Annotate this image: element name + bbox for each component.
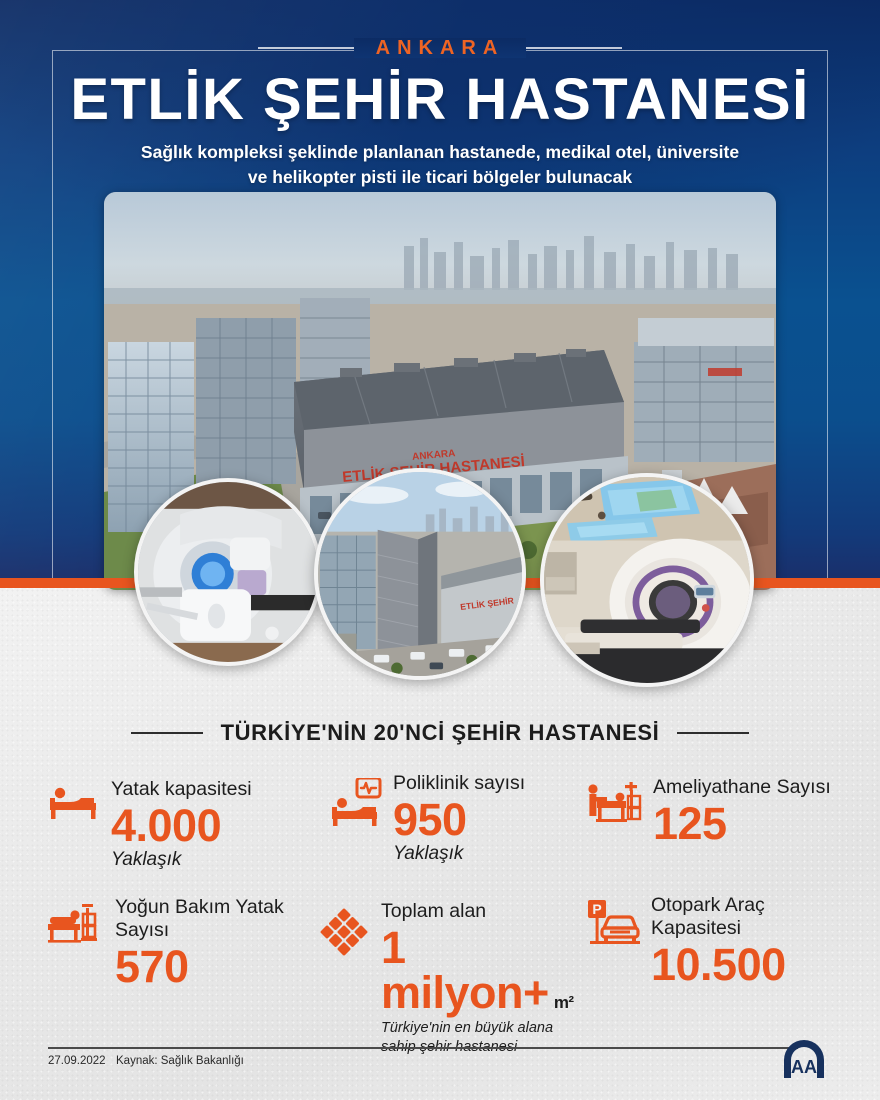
stat-label: Yatak kapasitesi bbox=[111, 778, 298, 801]
svg-text:AA: AA bbox=[791, 1057, 817, 1077]
heading-rule-right bbox=[677, 732, 749, 734]
heading-rule-left bbox=[131, 732, 203, 734]
footer-source: Kaynak: Sağlık Bakanlığı bbox=[116, 1055, 244, 1067]
stat-label: Yoğun Bakım Yatak Sayısı bbox=[115, 896, 313, 942]
stat-value: 1 milyon+ bbox=[381, 922, 549, 1018]
kicker-label: ANKARA bbox=[354, 38, 527, 58]
svg-text:P: P bbox=[592, 901, 601, 917]
footer-date: 27.09.2022 bbox=[48, 1055, 106, 1067]
stat-intensive-care-beds: Yoğun Bakım Yatak Sayısı 570 bbox=[48, 896, 313, 989]
area-diamond-grid-icon bbox=[318, 900, 370, 958]
stat-unit: m² bbox=[554, 993, 574, 1012]
stat-polyclinic-count: Poliklinik sayısı 950 Yaklaşık bbox=[332, 772, 562, 866]
footer-divider bbox=[48, 1047, 798, 1049]
stat-bed-capacity: Yatak kapasitesi 4.000 Yaklaşık bbox=[48, 778, 298, 872]
stat-value: 10.500 bbox=[651, 942, 846, 987]
kicker-rule-left bbox=[258, 47, 354, 49]
stat-value: 950 bbox=[393, 797, 562, 842]
bed-with-monitor-icon bbox=[332, 772, 382, 826]
kicker-row: ANKARA bbox=[0, 38, 880, 58]
mri-scanner-photo bbox=[540, 473, 754, 687]
stat-note: Türkiye'nin en büyük alana sahip şehir h… bbox=[381, 1019, 574, 1057]
stat-value: 570 bbox=[115, 944, 313, 989]
hospital-campus-aerial-photo: ETLİK ŞEHİR bbox=[314, 468, 526, 680]
infographic-page: ANKARA ETLİK ŞEHİR HASTANESİ Sağlık komp… bbox=[0, 0, 880, 1100]
stat-parking-capacity: P Otopark Araç Kapasitesi 10.500 bbox=[586, 894, 846, 987]
stat-label: Toplam alan bbox=[381, 900, 574, 923]
stat-label: Otopark Araç Kapasitesi bbox=[651, 894, 846, 940]
hospital-bed-patient-icon bbox=[48, 778, 100, 820]
stat-approx: Yaklaşık bbox=[393, 843, 562, 866]
stat-total-area: Toplam alan 1 milyon+m² Türkiye'nin en b… bbox=[318, 900, 568, 1057]
intensive-care-bed-icon bbox=[48, 896, 104, 946]
page-subtitle: Sağlık kompleksi şeklinde planlanan hast… bbox=[130, 140, 750, 191]
stat-operating-room-count: Ameliyathane Sayısı 125 bbox=[586, 776, 836, 846]
aa-anadolu-agency-logo: AA bbox=[780, 1036, 828, 1080]
stat-value: 4.000 bbox=[111, 803, 298, 848]
radiotherapy-machine-photo bbox=[134, 478, 322, 666]
stat-label: Ameliyathane Sayısı bbox=[653, 776, 836, 799]
page-title: ETLİK ŞEHİR HASTANESİ bbox=[0, 70, 880, 131]
operating-room-icon bbox=[586, 776, 642, 824]
parking-car-icon: P bbox=[586, 894, 640, 946]
kicker-rule-right bbox=[526, 47, 622, 49]
stats-section-heading: TÜRKİYE'NİN 20'NCİ ŞEHİR HASTANESİ bbox=[203, 722, 678, 744]
stat-label: Poliklinik sayısı bbox=[393, 772, 562, 795]
stat-value: 125 bbox=[653, 801, 836, 846]
stat-approx: Yaklaşık bbox=[111, 849, 298, 872]
stat-value-row: 1 milyon+m² bbox=[381, 925, 574, 1015]
stats-section-heading-row: TÜRKİYE'NİN 20'NCİ ŞEHİR HASTANESİ bbox=[0, 722, 880, 744]
